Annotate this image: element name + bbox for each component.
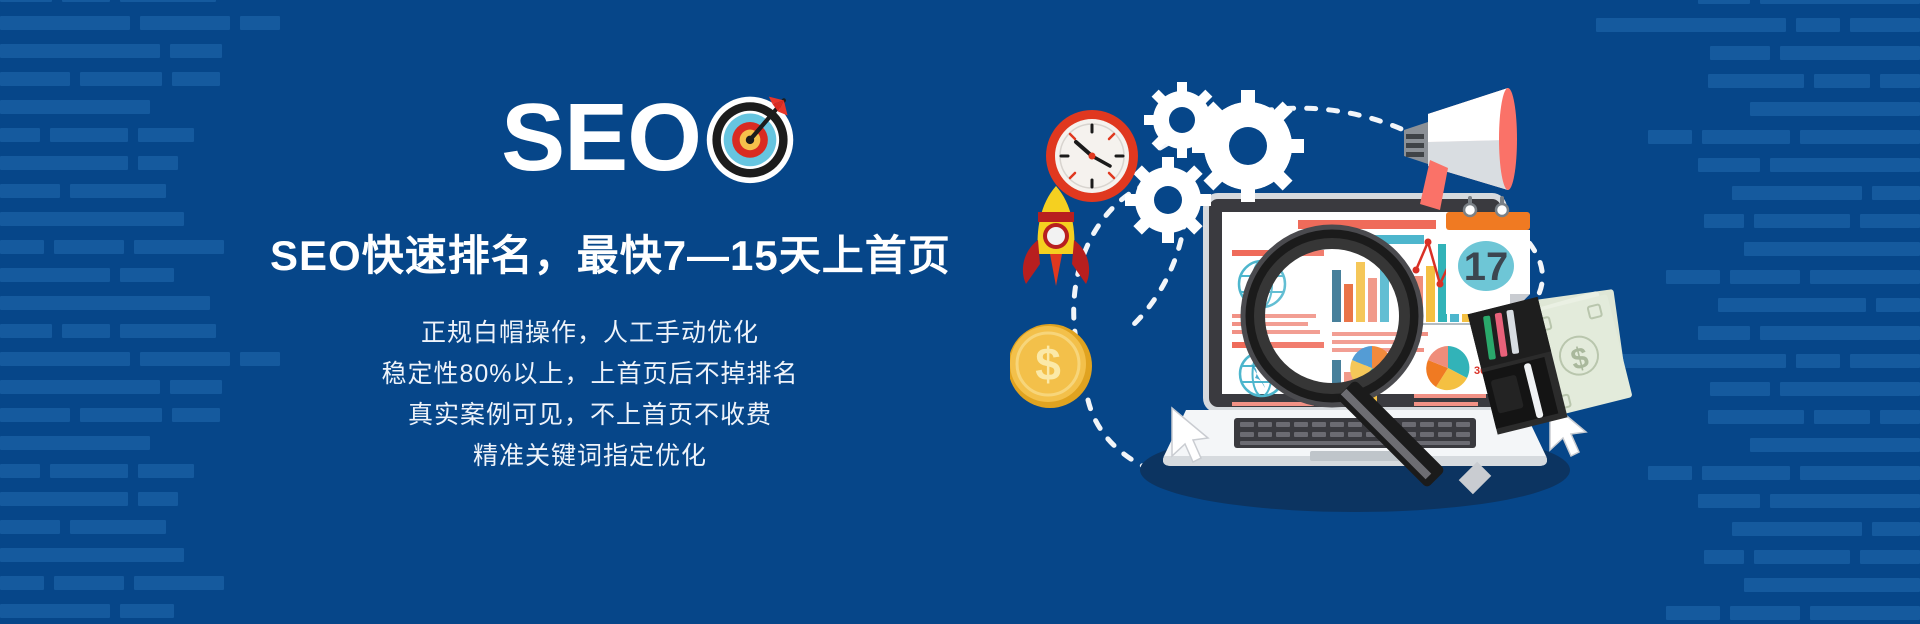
code-pattern-chip	[1750, 438, 1920, 452]
code-pattern-chip	[1710, 382, 1770, 396]
code-pattern-chip	[1860, 214, 1920, 228]
code-pattern-chip	[1872, 186, 1920, 200]
code-pattern-chip	[70, 520, 166, 534]
banner-subline-1: 正规白帽操作，人工手动优化	[270, 313, 910, 354]
rocket-icon	[1023, 186, 1089, 286]
code-pattern-chip	[50, 128, 128, 142]
megaphone-icon	[1404, 88, 1517, 210]
code-pattern-chip	[1810, 270, 1920, 284]
alarm-clock-icon	[1046, 110, 1138, 202]
code-pattern-chip	[1744, 578, 1920, 592]
code-pattern-chip	[120, 324, 216, 338]
code-pattern-row	[0, 0, 420, 2]
code-pattern-chip	[1850, 18, 1920, 32]
code-pattern-chip	[134, 240, 224, 254]
code-pattern-row	[0, 520, 420, 534]
code-pattern-chip	[0, 548, 184, 562]
code-pattern-chip	[1710, 46, 1770, 60]
code-pattern-chip	[0, 16, 130, 30]
seo-wordmark: SEO	[501, 90, 701, 186]
code-pattern-chip	[138, 464, 194, 478]
code-pattern-chip	[134, 576, 224, 590]
code-pattern-row	[0, 16, 420, 30]
seo-logo: SEO	[388, 90, 910, 186]
code-pattern-chip	[1666, 606, 1720, 620]
code-pattern-chip	[120, 604, 174, 618]
code-pattern-chip	[1880, 410, 1920, 424]
code-pattern-chip	[1596, 18, 1786, 32]
code-pattern-chip	[1760, 0, 1920, 4]
code-pattern-chip	[0, 268, 110, 282]
code-pattern-chip	[1744, 242, 1920, 256]
code-pattern-chip	[1732, 522, 1862, 536]
code-pattern-chip	[170, 380, 222, 394]
banner-subline-2: 稳定性80%以上，上首页后不掉排名	[270, 354, 910, 395]
code-pattern-row	[0, 72, 420, 86]
code-pattern-chip	[1754, 214, 1850, 228]
code-pattern-chip	[54, 576, 124, 590]
code-pattern-chip	[1702, 130, 1790, 144]
code-pattern-chip	[120, 268, 174, 282]
code-pattern-chip	[1754, 550, 1850, 564]
code-pattern-chip	[0, 0, 52, 2]
code-pattern-chip	[0, 72, 70, 86]
banner-subline-3: 真实案例可见，不上首页不收费	[270, 395, 910, 436]
code-pattern-chip	[0, 408, 70, 422]
code-pattern-chip	[1770, 158, 1920, 172]
code-pattern-chip	[0, 324, 52, 338]
code-pattern-chip	[1730, 270, 1800, 284]
calendar-icon: 17	[1446, 198, 1530, 314]
code-pattern-chip	[80, 408, 162, 422]
code-pattern-row	[1500, 18, 1920, 32]
code-pattern-chip	[80, 72, 162, 86]
code-pattern-chip	[0, 352, 130, 366]
code-pattern-chip	[120, 0, 216, 2]
code-pattern-row	[1500, 550, 1920, 564]
code-pattern-chip	[0, 464, 40, 478]
code-pattern-row	[1500, 606, 1920, 620]
code-pattern-chip	[172, 408, 220, 422]
code-pattern-chip	[1760, 326, 1920, 340]
seo-illustration: 30%	[1010, 70, 1710, 550]
code-pattern-chip	[140, 16, 230, 30]
code-pattern-row	[0, 604, 420, 618]
code-pattern-chip	[1800, 466, 1920, 480]
code-pattern-chip	[140, 352, 230, 366]
code-pattern-chip	[0, 100, 150, 114]
code-pattern-row	[1500, 0, 1920, 4]
code-pattern-chip	[1850, 354, 1920, 368]
code-pattern-chip	[1718, 298, 1866, 312]
banner-subline-4: 精准关键词指定优化	[270, 436, 910, 477]
code-pattern-row	[1500, 46, 1920, 60]
code-pattern-chip	[70, 184, 166, 198]
banner-sublines: 正规白帽操作，人工手动优化稳定性80%以上，上首页后不掉排名真实案例可见，不上首…	[270, 313, 910, 477]
banner-headline: SEO快速排名，最快7—15天上首页	[270, 222, 910, 283]
dollar-coin-icon: $	[1010, 324, 1092, 408]
code-pattern-chip	[1704, 214, 1744, 228]
coin-dollar-symbol: $	[1035, 338, 1061, 390]
code-pattern-row	[0, 548, 420, 562]
code-pattern-chip	[1814, 74, 1870, 88]
code-pattern-chip	[0, 44, 160, 58]
code-pattern-chip	[1796, 354, 1840, 368]
code-pattern-chip	[0, 156, 128, 170]
code-pattern-chip	[1704, 550, 1744, 564]
code-pattern-chip	[1730, 606, 1800, 620]
code-pattern-chip	[0, 240, 44, 254]
code-pattern-chip	[1814, 410, 1870, 424]
code-pattern-chip	[0, 296, 210, 310]
code-pattern-chip	[170, 44, 222, 58]
code-pattern-row	[0, 492, 420, 506]
seo-banner: SEO SEO	[0, 0, 1920, 624]
code-pattern-chip	[172, 72, 220, 86]
code-pattern-chip	[0, 576, 44, 590]
code-pattern-chip	[0, 604, 110, 618]
code-pattern-chip	[1750, 102, 1920, 116]
code-pattern-chip	[1810, 606, 1920, 620]
code-pattern-chip	[1698, 0, 1750, 4]
code-pattern-chip	[240, 16, 280, 30]
code-pattern-chip	[138, 156, 178, 170]
code-pattern-chip	[1876, 298, 1920, 312]
code-pattern-chip	[0, 492, 128, 506]
code-pattern-chip	[0, 184, 60, 198]
code-pattern-chip	[1702, 466, 1790, 480]
code-pattern-chip	[1770, 494, 1920, 508]
code-pattern-chip	[1732, 186, 1862, 200]
code-pattern-chip	[0, 380, 160, 394]
code-pattern-chip	[1872, 522, 1920, 536]
code-pattern-chip	[1708, 74, 1804, 88]
code-pattern-chip	[1708, 410, 1804, 424]
code-pattern-chip	[1860, 550, 1920, 564]
code-pattern-chip	[1780, 46, 1920, 60]
code-pattern-chip	[0, 128, 40, 142]
code-pattern-chip	[1796, 18, 1840, 32]
code-pattern-chip	[1800, 130, 1920, 144]
banner-text-column: SEO SEO	[270, 90, 910, 477]
code-pattern-row	[0, 44, 420, 58]
code-pattern-chip	[0, 436, 150, 450]
code-pattern-chip	[1880, 74, 1920, 88]
code-pattern-chip	[62, 324, 110, 338]
code-pattern-chip	[0, 212, 184, 226]
code-pattern-row	[0, 576, 420, 590]
calendar-day-label: 17	[1464, 245, 1509, 289]
code-pattern-chip	[0, 520, 60, 534]
code-pattern-chip	[50, 464, 128, 478]
code-pattern-chip	[138, 492, 178, 506]
code-pattern-chip	[138, 128, 194, 142]
code-pattern-chip	[1780, 382, 1920, 396]
code-pattern-chip	[54, 240, 124, 254]
code-pattern-row	[1500, 578, 1920, 592]
code-pattern-chip	[62, 0, 110, 2]
target-bullseye-icon	[703, 91, 797, 185]
